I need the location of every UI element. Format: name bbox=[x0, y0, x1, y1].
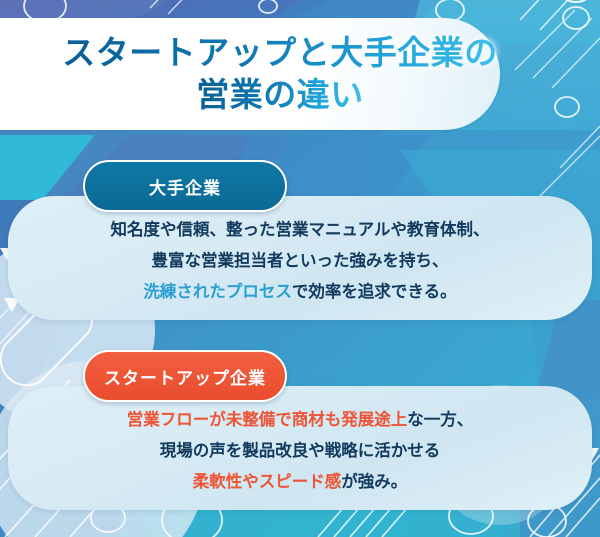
title-line-1: スタートアップと大手企業の bbox=[62, 33, 498, 73]
text-segment-normal: で効率を追求できる。 bbox=[292, 282, 457, 301]
title-line-2: 営業の違い bbox=[196, 75, 364, 115]
badge-large-enterprise: 大手企業 bbox=[83, 160, 287, 212]
page-title: スタートアップと大手企業の 営業の違い bbox=[0, 18, 560, 130]
infographic-canvas: スタートアップと大手企業の 営業の違い 大手企業 スタートアップ企業 知名度や信… bbox=[0, 0, 600, 537]
text-segment-red: 柔軟性やスピード感 bbox=[193, 472, 342, 491]
badge-startup: スタートアップ企業 bbox=[83, 350, 287, 402]
text-segment-normal: な一方、 bbox=[407, 410, 473, 429]
body-line: 現場の声を製品改良や戦略に活かせる bbox=[8, 435, 592, 466]
text-segment-cyan: 洗練されたプロセス bbox=[143, 282, 292, 301]
text-segment-normal: 知名度や信頼、整った営業マニュアルや教育体制、 bbox=[110, 220, 489, 239]
body-line: 営業フローが未整備で商材も発展途上な一方、 bbox=[8, 404, 592, 435]
body-text-large-enterprise: 知名度や信頼、整った営業マニュアルや教育体制、豊富な営業担当者といった強みを持ち… bbox=[8, 214, 592, 307]
body-line: 豊富な営業担当者といった強みを持ち、 bbox=[8, 245, 592, 276]
text-segment-normal: 現場の声を製品改良や戦略に活かせる bbox=[160, 441, 441, 460]
body-line: 洗練されたプロセスで効率を追求できる。 bbox=[8, 276, 592, 307]
body-line: 柔軟性やスピード感が強み。 bbox=[8, 466, 592, 497]
text-segment-normal: 豊富な営業担当者といった強みを持ち、 bbox=[152, 251, 449, 270]
body-line: 知名度や信頼、整った営業マニュアルや教育体制、 bbox=[8, 214, 592, 245]
text-segment-red: 営業フローが未整備で商材も発展途上 bbox=[127, 410, 408, 429]
text-segment-normal: が強み。 bbox=[341, 472, 407, 491]
body-text-startup: 営業フローが未整備で商材も発展途上な一方、現場の声を製品改良や戦略に活かせる柔軟… bbox=[8, 404, 592, 497]
